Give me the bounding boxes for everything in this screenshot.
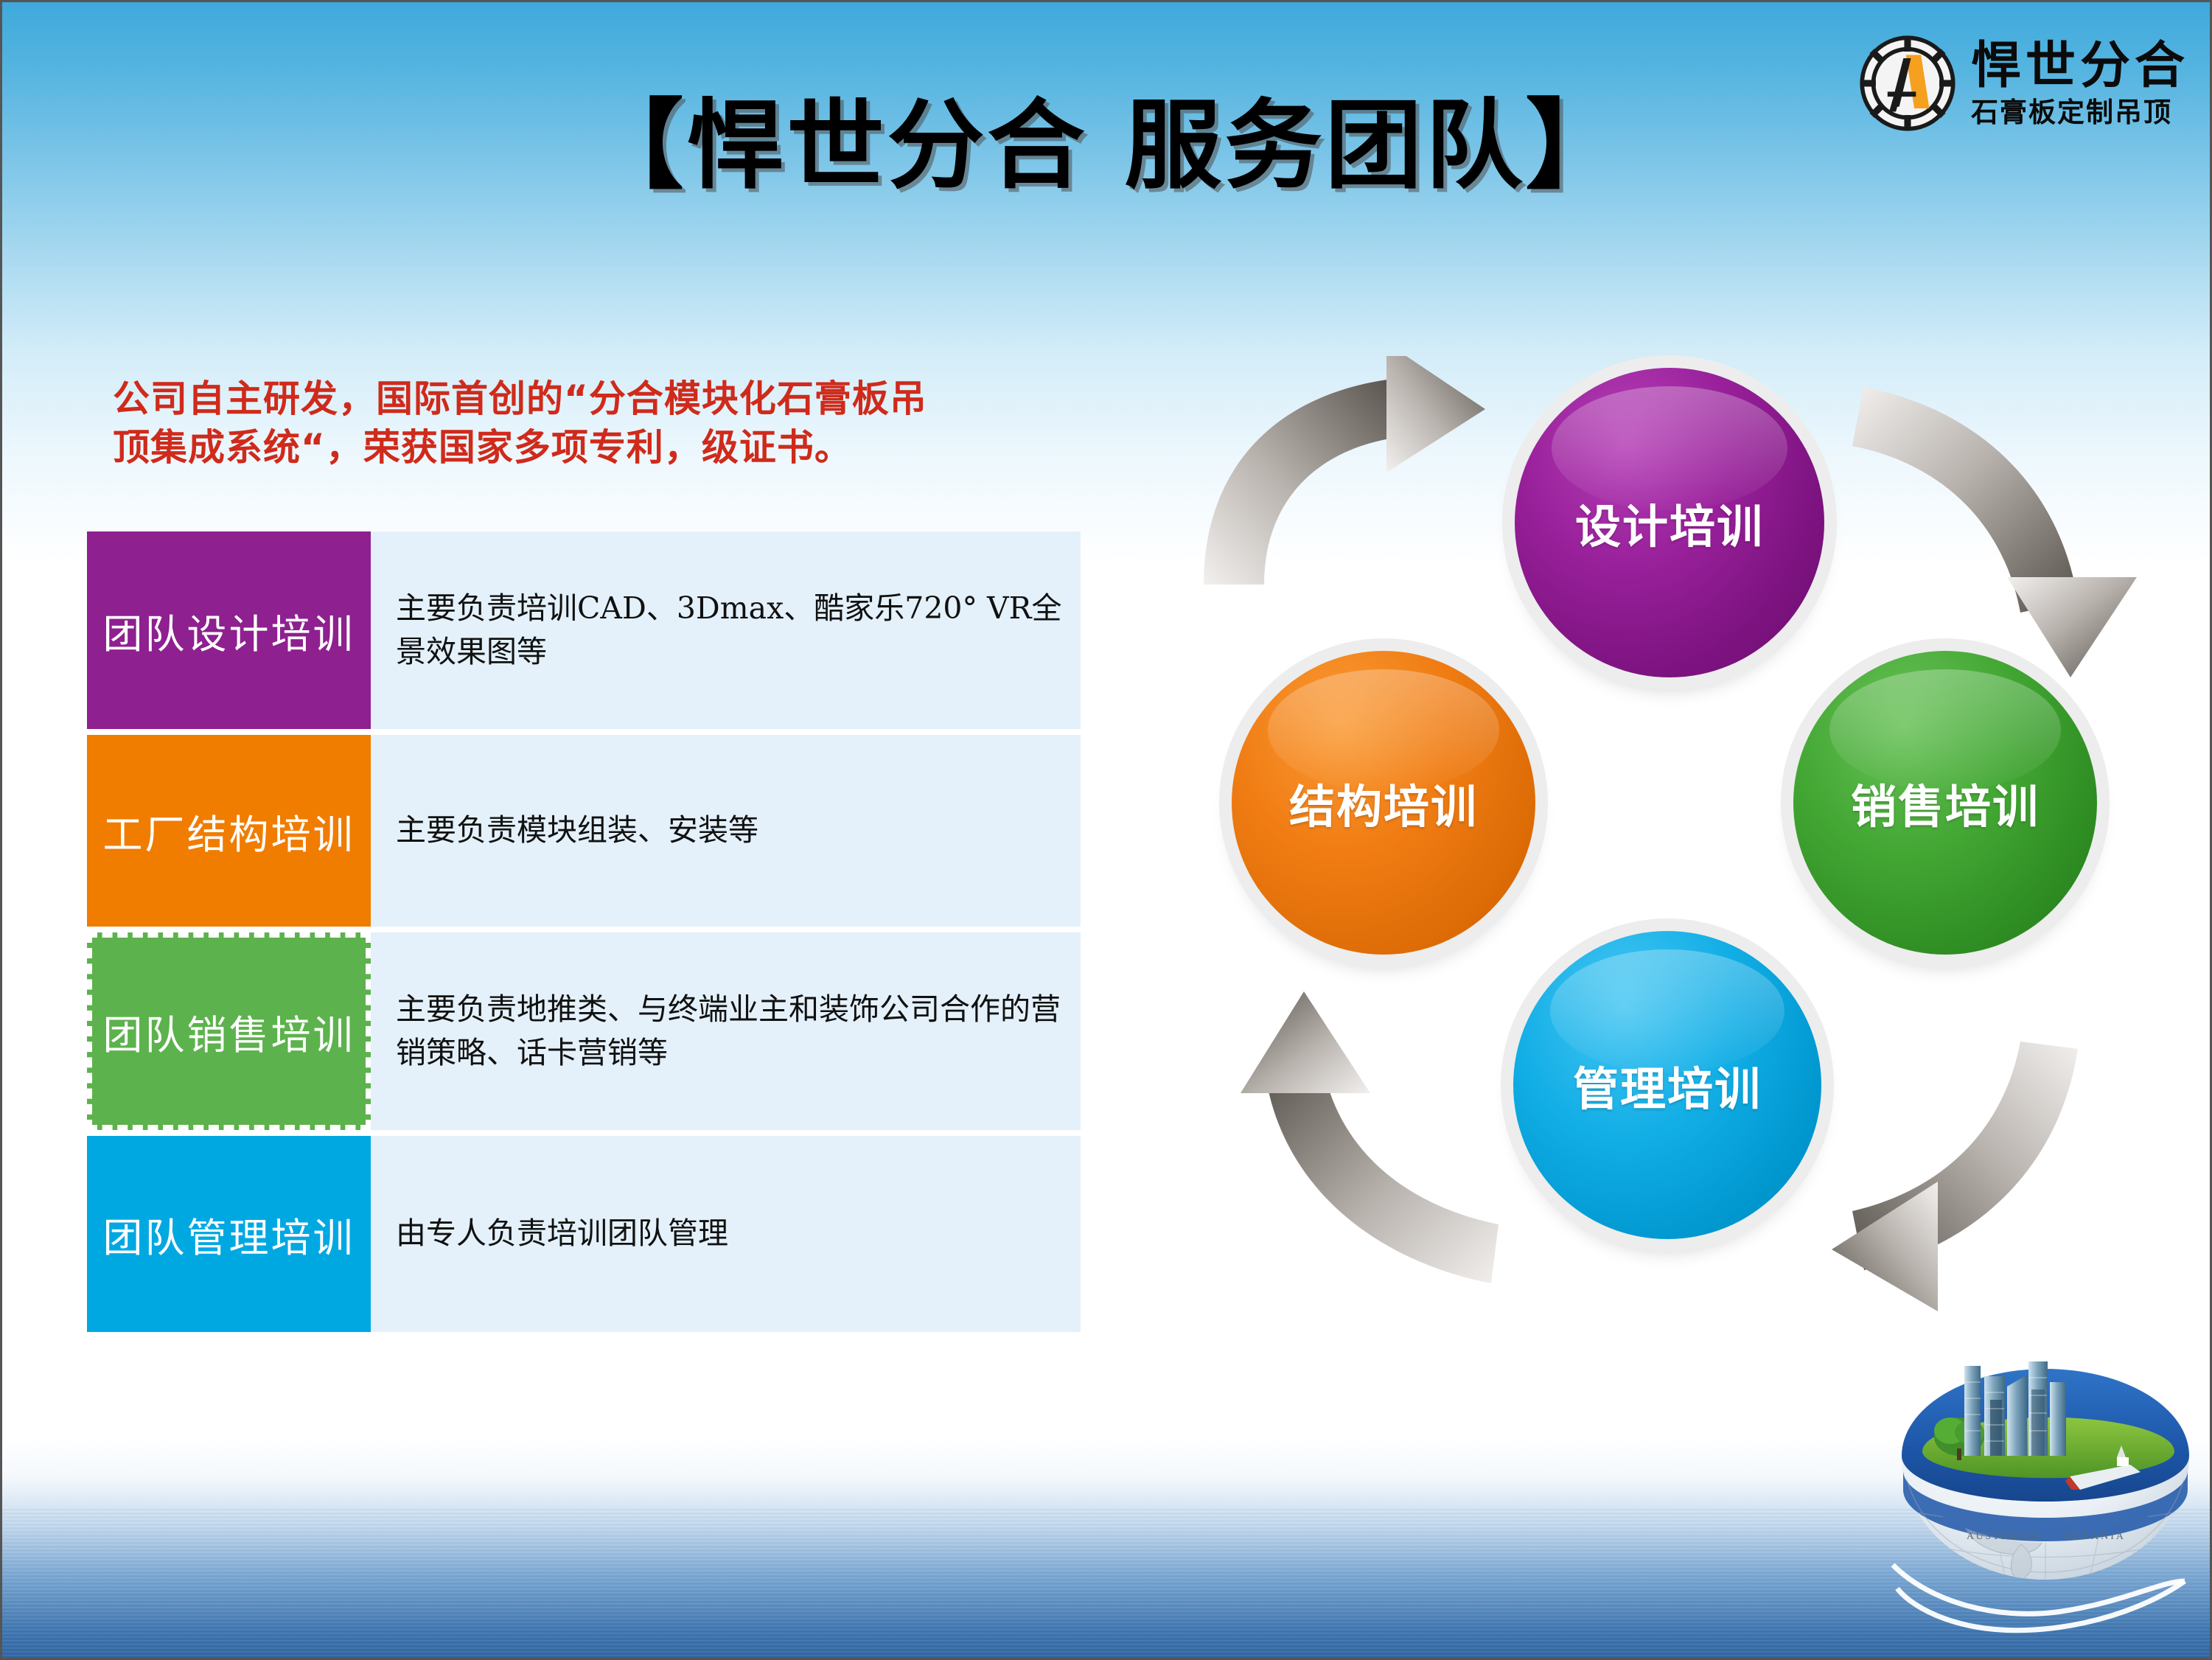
table-row-description: 主要负责培训CAD、3Dmax、酷家乐720° VR全景效果图等 bbox=[371, 531, 1081, 729]
logo-text-block: 悍世分合 石膏板定制吊顶 bbox=[1971, 41, 2189, 126]
lead-line-2: 顶集成系统“，荣获国家多项专利，级证书。 bbox=[113, 423, 983, 472]
table-row-description: 主要负责模块组装、安装等 bbox=[371, 735, 1081, 927]
lead-line-1: 公司自主研发，国际首创的“分合模块化石膏板吊 bbox=[113, 374, 983, 423]
curved-arrow-icon bbox=[1241, 991, 1498, 1283]
table-row-category: 团队设计培训 bbox=[87, 531, 371, 729]
curved-arrow-icon bbox=[1852, 387, 2137, 677]
circular-gear-logo-icon bbox=[1857, 33, 1958, 133]
logo-company-name: 悍世分合 bbox=[1971, 41, 2189, 91]
training-cycle-diagram: 设计培训 销售培训 管理培训 结构培训 bbox=[1196, 356, 2169, 1336]
cycle-node-management[interactable]: 管理培训 bbox=[1513, 931, 1821, 1239]
logo-tagline: 石膏板定制吊顶 bbox=[1971, 99, 2189, 126]
table-row: 工厂结构培训 主要负责模块组装、安装等 bbox=[87, 735, 1081, 927]
globe-city-illustration: AUSTRALIA OCEANIA bbox=[1887, 1360, 2204, 1655]
table-row-category: 团队管理培训 bbox=[87, 1136, 371, 1332]
water-background bbox=[2, 1437, 2210, 1658]
cycle-node-label: 管理培训 bbox=[1573, 1052, 1762, 1118]
table-row: 团队管理培训 由专人负责培训团队管理 bbox=[87, 1136, 1081, 1332]
cycle-node-design[interactable]: 设计培训 bbox=[1515, 368, 1824, 677]
brand-logo: 悍世分合 石膏板定制吊顶 bbox=[1857, 33, 2189, 133]
lead-paragraph: 公司自主研发，国际首创的“分合模块化石膏板吊 顶集成系统“，荣获国家多项专利，级… bbox=[113, 374, 983, 472]
table-row: 团队销售培训 主要负责地推类、与终端业主和装饰公司合作的营销策略、话卡营销等 bbox=[87, 932, 1081, 1130]
table-row-category: 工厂结构培训 bbox=[87, 735, 371, 927]
svg-text:AUSTRALIA: AUSTRALIA bbox=[1967, 1531, 2042, 1542]
cycle-node-sales[interactable]: 销售培训 bbox=[1793, 651, 2097, 955]
cycle-node-label: 结构培训 bbox=[1289, 770, 1478, 836]
cycle-node-structure[interactable]: 结构培训 bbox=[1232, 651, 1535, 955]
svg-text:OCEANIA: OCEANIA bbox=[2064, 1531, 2126, 1542]
table-row: 团队设计培训 主要负责培训CAD、3Dmax、酷家乐720° VR全景效果图等 bbox=[87, 531, 1081, 729]
training-table: 团队设计培训 主要负责培训CAD、3Dmax、酷家乐720° VR全景效果图等 … bbox=[87, 531, 1081, 1332]
table-row-category: 团队销售培训 bbox=[87, 932, 371, 1130]
cycle-node-label: 设计培训 bbox=[1575, 489, 1764, 556]
cycle-node-label: 销售培训 bbox=[1851, 770, 2040, 836]
curved-arrow-icon bbox=[1204, 356, 1485, 585]
table-row-description: 主要负责地推类、与终端业主和装饰公司合作的营销策略、话卡营销等 bbox=[371, 932, 1081, 1130]
slide-canvas: 【悍世分合 服务团队】 悍世分合 石膏板定制吊 bbox=[0, 0, 2212, 1660]
curved-arrow-icon bbox=[1832, 1042, 2078, 1311]
table-row-description: 由专人负责培训团队管理 bbox=[371, 1136, 1081, 1332]
